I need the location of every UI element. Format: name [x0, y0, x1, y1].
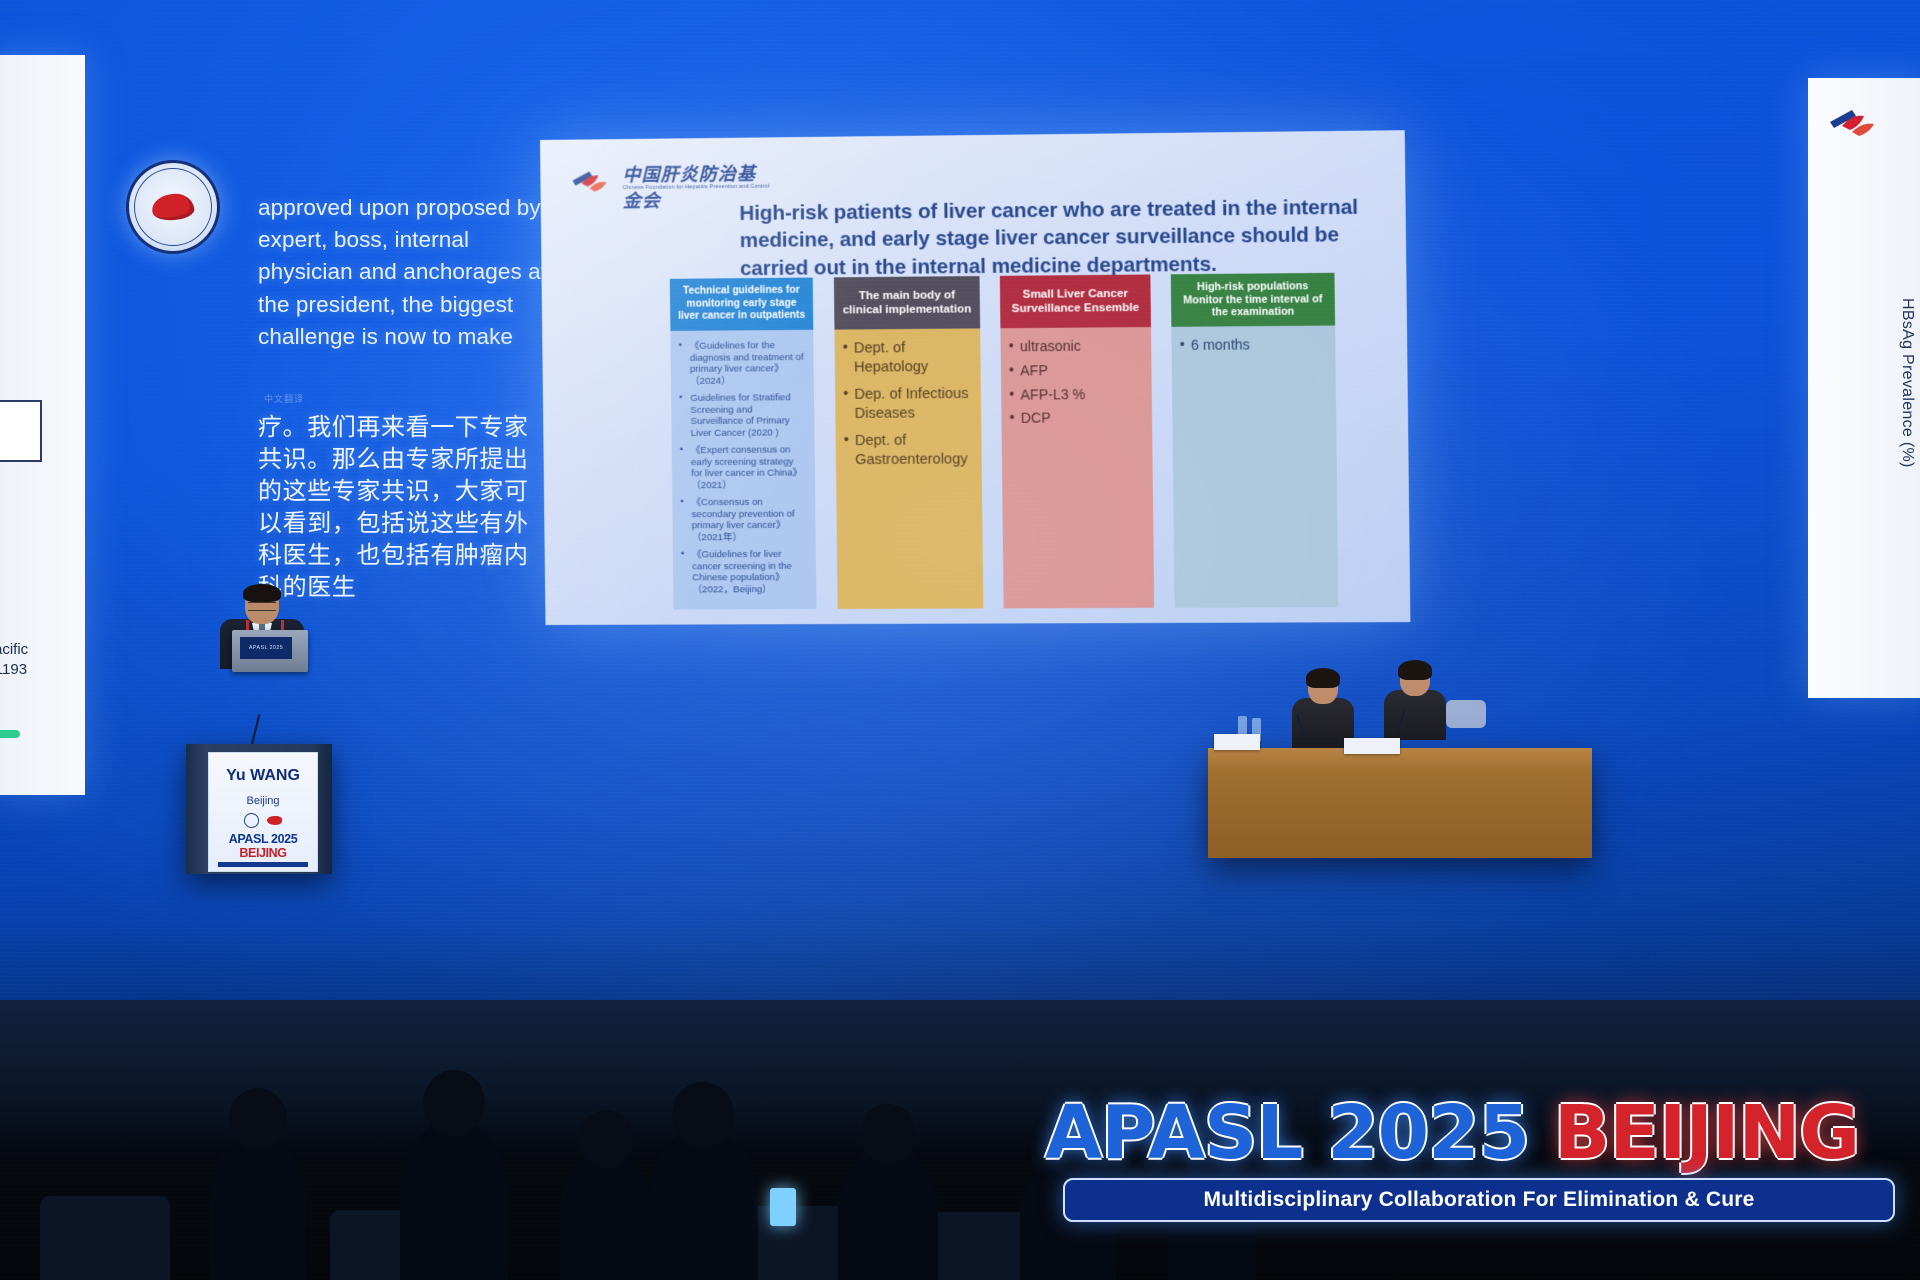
slide-columns: Technical guidelines for monitoring earl… — [670, 272, 1385, 609]
apasl-banner-title-blue: APASL 2025 — [1045, 1090, 1554, 1176]
speaker-city: Beijing — [209, 795, 317, 807]
audience-member — [400, 1118, 508, 1280]
column-item-list: 《Guidelines for the diagnosis and treatm… — [679, 340, 809, 596]
panelist-torso — [1384, 690, 1446, 740]
podium-card-icons — [209, 813, 317, 827]
speaker-hair — [243, 584, 281, 602]
caption-chinese-label: 中文翻译 — [264, 392, 444, 405]
right-led-panel: HBsAg Prevalence (%) — [1808, 78, 1920, 698]
audience-member — [560, 1150, 652, 1280]
list-item: 6 months — [1180, 336, 1328, 354]
audience-head — [579, 1110, 633, 1168]
column-high-risk-populations: High-risk populations Monitor the time i… — [1171, 273, 1339, 608]
column-main-body-clinical-implementation: The main body of clinical implementation… — [834, 276, 983, 609]
apasl-event-banner: APASL 2025 BEIJING Multidisciplinary Col… — [1045, 1090, 1905, 1250]
left-led-panel: ···· H Pacific D1193 — [0, 55, 85, 795]
slide-title: High-risk patients of liver cancer who a… — [739, 193, 1375, 282]
audience-head — [423, 1070, 485, 1136]
column-body: 《Guidelines for the diagnosis and treatm… — [670, 330, 816, 610]
right-panel-axis-label: HBsAg Prevalence (%) — [1898, 298, 1916, 468]
left-panel-chart-box: ···· H — [0, 400, 42, 462]
list-item: Dept. of Hepatology — [843, 339, 973, 377]
podium-event-title-red: BEIJING — [239, 846, 286, 860]
column-header: Small Liver Cancer Surveillance Ensemble — [1000, 274, 1151, 328]
audience-head — [860, 1104, 916, 1164]
audience-head — [672, 1082, 734, 1148]
apasl-banner-title-red: BEIJING — [1554, 1090, 1859, 1176]
podium-event-title: APASL 2025 BEIJING — [209, 832, 317, 860]
speaker-name: Yu WANG — [209, 767, 317, 785]
list-item: AFP-L3 % — [1009, 385, 1143, 403]
caption-chinese: 疗。我们再来看一下专家共识。那么由专家所提出的这些专家共识，大家可以看到，包括说… — [258, 412, 533, 603]
apasl-emblem-icon — [244, 813, 259, 828]
speaker-glasses-icon — [248, 602, 276, 611]
laptop-screen-label: APASL 2025 — [240, 637, 292, 659]
list-item: AFP — [1009, 361, 1143, 379]
list-item: 《Expert consensus on early screening str… — [680, 444, 807, 491]
podium-subtitle-bar — [218, 862, 308, 867]
column-technical-guidelines: Technical guidelines for monitoring earl… — [670, 278, 817, 610]
list-item: 《Guidelines for the diagnosis and treatm… — [679, 340, 806, 387]
podium-name-card: Yu WANG Beijing APASL 2025 BEIJING The 3… — [208, 752, 318, 872]
caption-english: approved upon proposed by expert, boss, … — [258, 192, 548, 353]
column-header: Technical guidelines for monitoring earl… — [670, 278, 813, 331]
column-item-list: Dept. of Hepatology Dep. of Infectious D… — [843, 339, 974, 470]
list-item: 《Guidelines for liver cancer screening i… — [681, 549, 808, 596]
column-body: ultrasonic AFP AFP-L3 % DCP — [1000, 327, 1154, 608]
cfhpc-hands-flag-mark-icon — [1826, 100, 1888, 148]
projected-slide: 中国肝炎防治基金会 Chinese Foundation for Hepatit… — [540, 130, 1410, 625]
column-small-liver-cancer-surveillance-ensemble: Small Liver Cancer Surveillance Ensemble… — [1000, 274, 1154, 608]
audience-member — [648, 1128, 758, 1280]
left-panel-text: Pacific D1193 — [0, 640, 84, 681]
column-header: High-risk populations Monitor the time i… — [1171, 273, 1335, 327]
list-item: ultrasonic — [1009, 337, 1143, 355]
audience-phone-screen — [770, 1188, 796, 1226]
column-header: The main body of clinical implementation — [834, 276, 980, 330]
column-item-list: 6 months — [1180, 336, 1328, 354]
panelist-hair — [1306, 668, 1340, 688]
apasl-banner-title: APASL 2025 BEIJING — [1045, 1090, 1905, 1176]
conference-hall-photo: ···· H Pacific D1193 HBsAg Prevalence (%… — [0, 0, 1920, 1280]
apasl-banner-subtitle: Multidisciplinary Collaboration For Elim… — [1063, 1178, 1895, 1222]
column-body: Dept. of Hepatology Dep. of Infectious D… — [834, 328, 983, 609]
list-item: Dep. of Infectious Diseases — [843, 385, 973, 423]
panel-name-card — [1344, 738, 1400, 754]
chair-back — [1446, 700, 1486, 728]
podium-laptop: APASL 2025 — [232, 630, 308, 672]
audience-head — [229, 1088, 287, 1150]
panel-name-card — [1214, 734, 1260, 750]
column-item-list: ultrasonic AFP AFP-L3 % DCP — [1009, 337, 1144, 427]
audience-member — [838, 1146, 938, 1280]
audience-seat — [40, 1196, 170, 1280]
cfhpc-flag-icon — [267, 816, 282, 825]
panelist-hair — [1398, 660, 1432, 680]
panel-desk — [1208, 748, 1592, 858]
apasl-wall-emblem — [126, 160, 220, 254]
list-item: Guidelines for Stratified Screening and … — [679, 392, 806, 439]
podium-event-title-blue: APASL 2025 — [229, 832, 298, 846]
list-item: Dept. of Gastroenterology — [844, 431, 974, 469]
audience-member — [210, 1132, 306, 1280]
list-item: DCP — [1009, 409, 1143, 427]
left-panel-green-bar — [0, 730, 20, 738]
cfhpc-hands-flag-mark-icon — [570, 165, 618, 198]
column-body: 6 months — [1171, 325, 1338, 607]
list-item: 《Consensus on secondary prevention of pr… — [680, 497, 807, 544]
